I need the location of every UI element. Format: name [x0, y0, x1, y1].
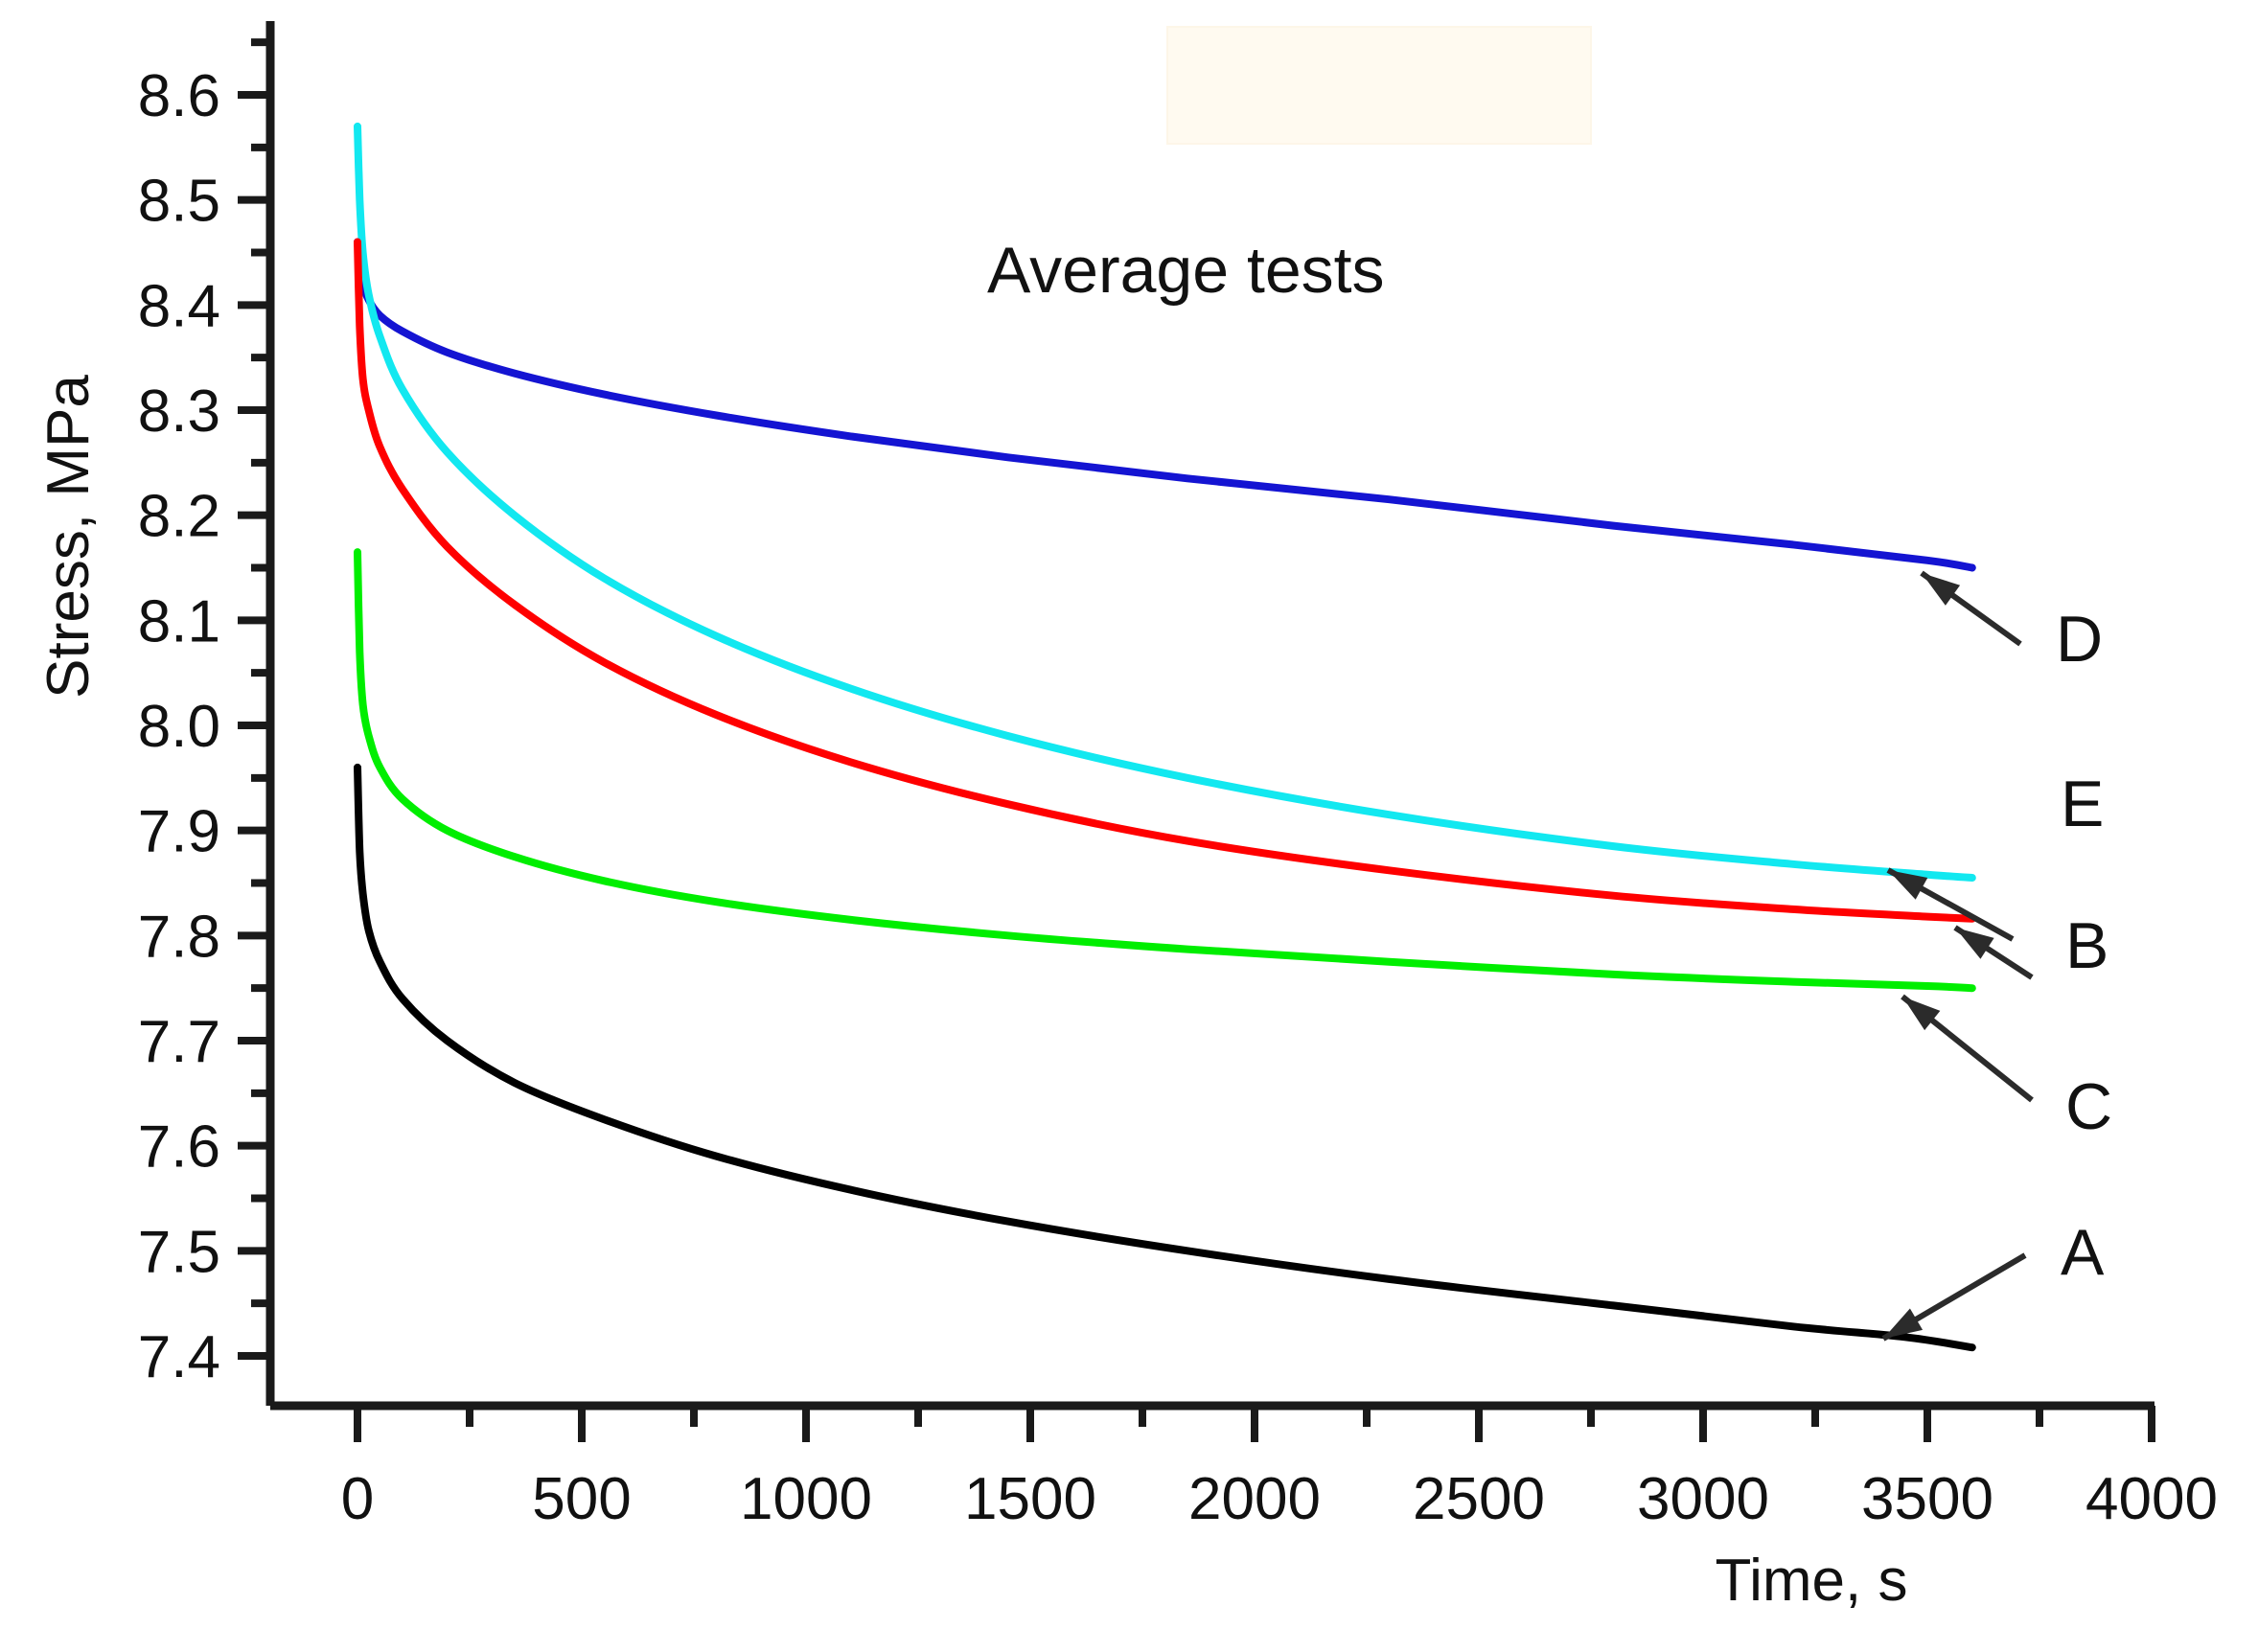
y-tick-label: 7.8 — [138, 904, 220, 970]
x-tick-label: 1000 — [740, 1466, 872, 1532]
y-axis-label: Stress, MPa — [35, 375, 102, 699]
x-tick-label: 0 — [341, 1466, 374, 1532]
y-tick-label: 7.6 — [138, 1114, 220, 1181]
y-tick-label: 8.5 — [138, 169, 220, 235]
y-tick-label: 8.0 — [138, 694, 220, 760]
x-tick-label: 2000 — [1188, 1466, 1321, 1532]
series-label-a: A — [2061, 1216, 2105, 1289]
x-tick-label: 3500 — [1861, 1466, 1993, 1532]
x-tick-label: 4000 — [2085, 1466, 2218, 1532]
x-tick-label: 500 — [532, 1466, 631, 1532]
chart-container: 7.47.57.67.77.87.98.08.18.28.38.48.58.60… — [0, 0, 2258, 1652]
x-axis-label: Time, s — [1716, 1548, 1908, 1614]
y-tick-label: 8.3 — [138, 379, 220, 445]
series-label-b: B — [2065, 909, 2108, 982]
x-tick-label: 2500 — [1413, 1466, 1545, 1532]
y-tick-label: 7.7 — [138, 1009, 220, 1075]
stress-relaxation-line-chart: 7.47.57.67.77.87.98.08.18.28.38.48.58.60… — [0, 0, 2258, 1652]
series-label-c: C — [2065, 1070, 2112, 1143]
series-label-d: D — [2056, 603, 2103, 676]
y-tick-label: 8.6 — [138, 63, 220, 129]
y-tick-label: 8.2 — [138, 484, 220, 550]
y-tick-label: 7.4 — [138, 1324, 220, 1390]
chart-title: Average tests — [987, 234, 1385, 307]
y-tick-label: 7.5 — [138, 1219, 220, 1285]
y-tick-label: 8.1 — [138, 588, 220, 654]
y-tick-label: 7.9 — [138, 799, 220, 865]
faint-highlight-box — [1167, 27, 1591, 144]
series-label-e: E — [2061, 768, 2104, 840]
x-tick-label: 3000 — [1637, 1466, 1769, 1532]
x-tick-label: 1500 — [964, 1466, 1096, 1532]
y-tick-label: 8.4 — [138, 273, 220, 339]
